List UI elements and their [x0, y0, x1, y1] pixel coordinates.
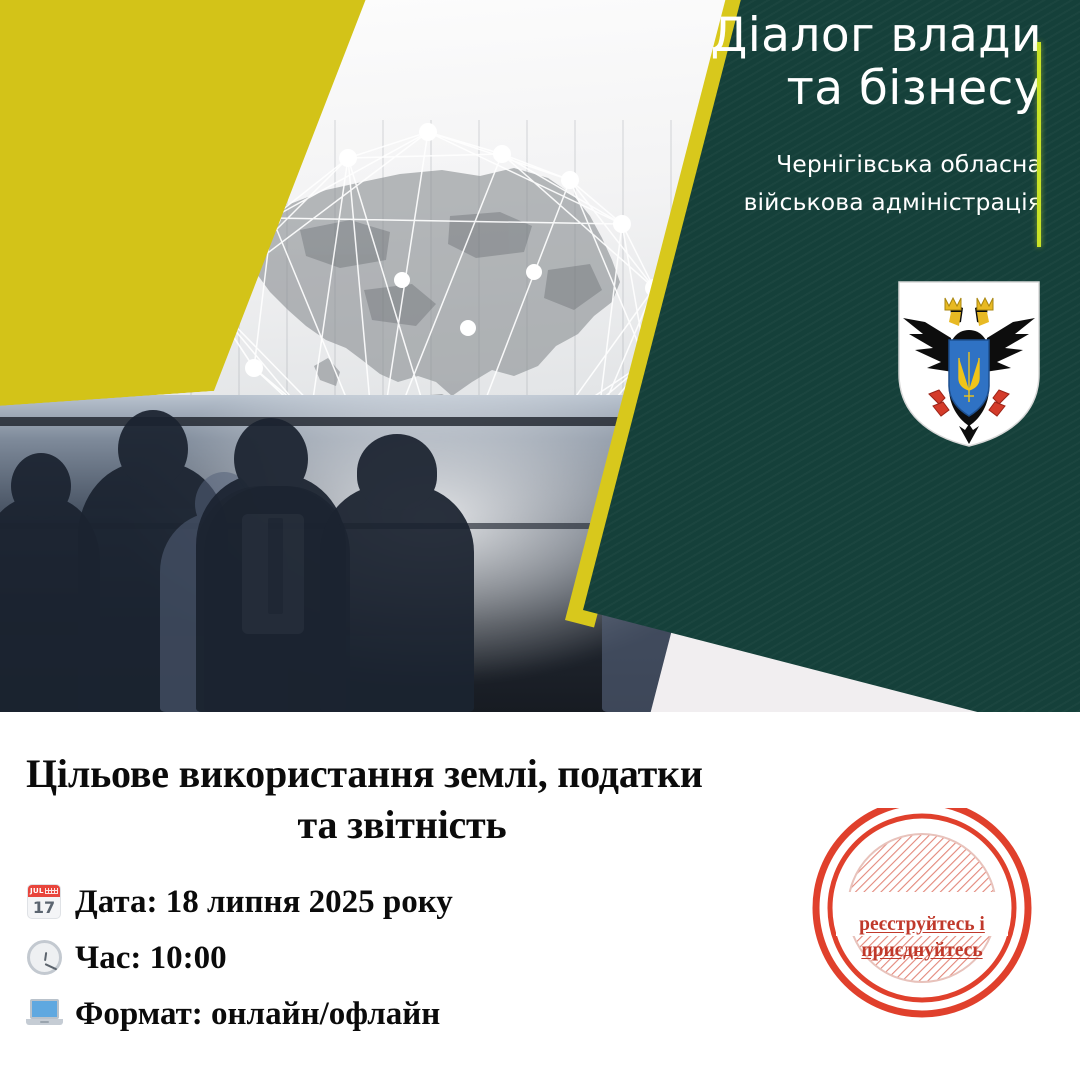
- event-details-list: JUL 17 Дата: 18 липня 2025 року Час: 10:…: [22, 874, 782, 1042]
- page-title: Цільове використання землі, податки та з…: [26, 748, 906, 850]
- registration-seal-stamp[interactable]: реєструйтесь і приєднуйтесь: [786, 808, 1058, 1080]
- laptop-icon: [22, 994, 66, 1034]
- brand-subtitle: Чернігівська обласна військова адміністр…: [612, 145, 1042, 221]
- banner-image: Діалог влади та бізнесу Чернігівська обл…: [0, 0, 1080, 712]
- poster-root: Діалог влади та бізнесу Чернігівська обл…: [0, 0, 1080, 1080]
- person-silhouette: [320, 484, 474, 712]
- calendar-day-label: 17: [28, 898, 60, 918]
- brand-text-block: Діалог влади та бізнесу Чернігівська обл…: [612, 10, 1042, 221]
- seal-text-line-1: реєструйтесь і: [786, 912, 1058, 938]
- detail-row-time: Час: 10:00: [22, 930, 782, 986]
- chernihiv-oblast-coat-of-arms-icon: [893, 278, 1045, 450]
- detail-row-date: JUL 17 Дата: 18 липня 2025 року: [22, 874, 782, 930]
- detail-text-time: Час: 10:00: [75, 940, 227, 977]
- seal-text-line-2: приєднуйтесь: [786, 938, 1058, 964]
- detail-text-format: Формат: онлайн/офлайн: [75, 996, 440, 1033]
- yellow-accent-line: [1037, 42, 1041, 247]
- seal-text: реєструйтесь і приєднуйтесь: [786, 912, 1058, 964]
- calendar-icon: JUL 17: [22, 882, 66, 922]
- page-title-line-1: Цільове використання землі, податки: [26, 748, 906, 799]
- detail-text-date: Дата: 18 липня 2025 року: [75, 884, 453, 921]
- calendar-month-label: JUL: [30, 886, 44, 895]
- detail-row-format: Формат: онлайн/офлайн: [22, 986, 782, 1042]
- brand-title: Діалог влади та бізнесу: [612, 10, 1042, 115]
- clock-icon: [22, 938, 66, 978]
- page-title-line-2: та звітність: [26, 799, 906, 850]
